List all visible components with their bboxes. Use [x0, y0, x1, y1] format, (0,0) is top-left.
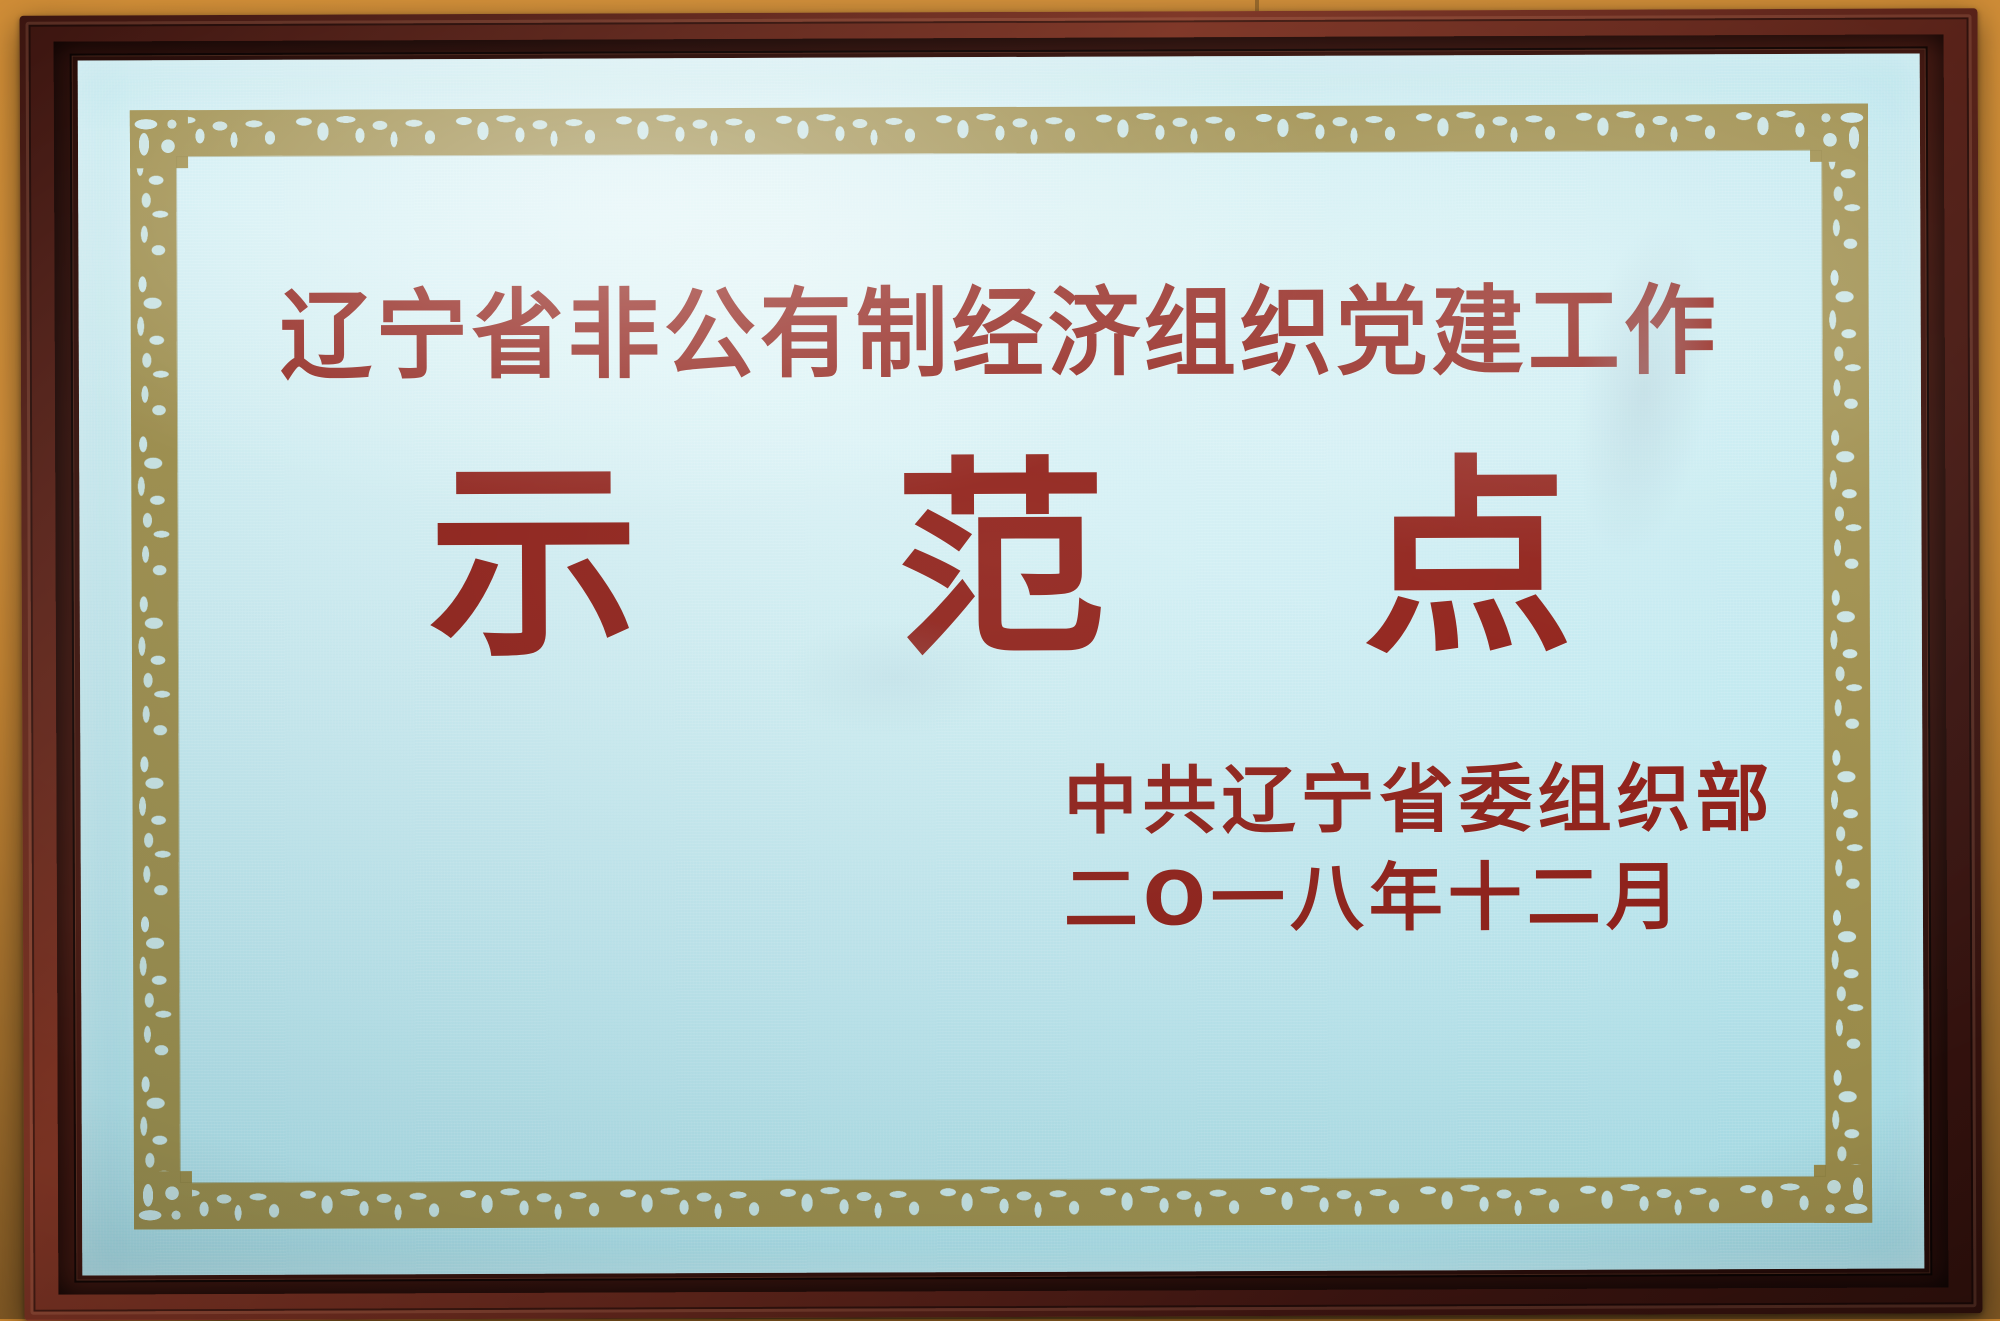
- plaque-signature-block: 中共辽宁省委组织部 二O一八年十二月: [1063, 754, 1775, 945]
- wooden-picture-frame: 辽宁省非公有制经济组织党建工作 示 范 点 中共辽宁省委组织部 二O一八年十二月: [20, 8, 1983, 1321]
- plaque-headline: 示 范 点: [131, 454, 1870, 671]
- award-plaque-face: 辽宁省非公有制经济组织党建工作 示 范 点 中共辽宁省委组织部 二O一八年十二月: [78, 53, 1925, 1275]
- issue-date: 二O一八年十二月: [1064, 852, 1775, 945]
- photo-scene: 辽宁省非公有制经济组织党建工作 示 范 点 中共辽宁省委组织部 二O一八年十二月: [0, 0, 2000, 1319]
- plaque-text-content: 辽宁省非公有制经济组织党建工作 示 范 点 中共辽宁省委组织部 二O一八年十二月: [130, 104, 1872, 1230]
- issuing-organization: 中共辽宁省委组织部: [1063, 754, 1774, 847]
- plaque-title: 辽宁省非公有制经济组织党建工作: [130, 252, 1869, 400]
